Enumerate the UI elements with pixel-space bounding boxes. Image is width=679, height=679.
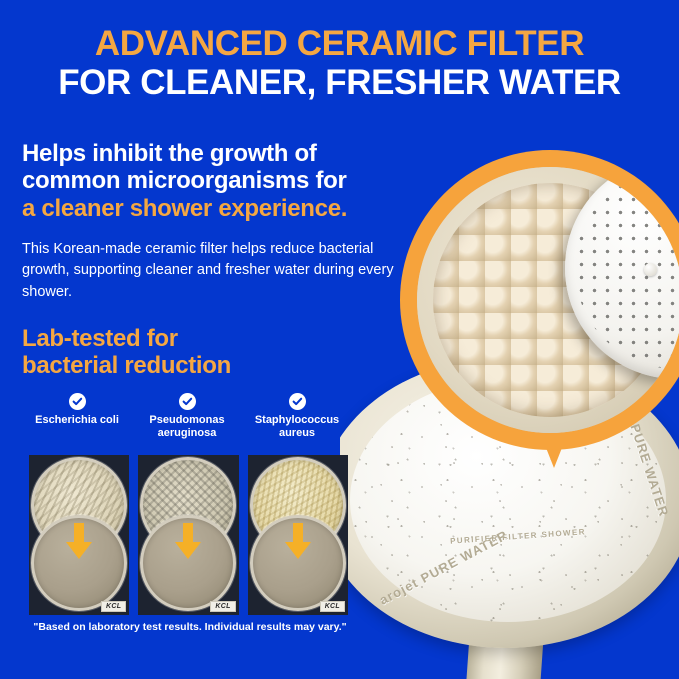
faceplate-nub-icon [644, 263, 657, 276]
bacteria-label-item: Pseudomonas aeruginosa [132, 393, 242, 440]
down-arrow-icon [66, 523, 92, 559]
section-title-line-1: Lab-tested for [22, 325, 178, 352]
page-title: ADVANCED CERAMIC FILTER FOR CLEANER, FRE… [0, 26, 679, 100]
petri-dish-panel: KCL [29, 455, 129, 615]
body-paragraph: This Korean-made ceramic filter helps re… [22, 239, 402, 303]
section-title-line-2: bacterial reduction [22, 352, 231, 379]
disclaimer-text: "Based on laboratory test results. Indiv… [22, 621, 358, 633]
headline-line-2: FOR CLEANER, FRESHER WATER [0, 65, 679, 101]
subheading-line-2: common microorganisms for [22, 167, 347, 194]
bacteria-label-row: Escherichia coli Pseudomonas aeruginosa … [22, 393, 352, 440]
check-circle-icon [289, 393, 306, 410]
subheading-accent-line: a cleaner shower experience. [22, 195, 442, 222]
subheading: Helps inhibit the growth of common micro… [22, 140, 442, 222]
infographic-page: jet PURE WATER arojet PURE WATER PURIFIE… [0, 0, 679, 679]
lab-badge: KCL [320, 601, 345, 612]
bacteria-label-item: Escherichia coli [22, 393, 132, 440]
bacteria-label-item: Staphylococcus aureus [242, 393, 352, 440]
lab-tested-section-title: Lab-tested for bacterial reduction [22, 326, 231, 380]
lab-badge: KCL [101, 601, 126, 612]
petri-dish-panel-row: KCL KCL KCL [29, 455, 348, 615]
bacteria-name: Escherichia coli [35, 414, 119, 427]
down-arrow-icon [285, 523, 311, 559]
down-arrow-icon [175, 523, 201, 559]
bacteria-name: Staphylococcus aureus [244, 414, 350, 440]
product-photo: jet PURE WATER arojet PURE WATER PURIFIE… [340, 0, 679, 679]
petri-dish-panel: KCL [248, 455, 348, 615]
check-circle-icon [179, 393, 196, 410]
headline-line-1: ADVANCED CERAMIC FILTER [0, 26, 679, 62]
subheading-line-1: Helps inhibit the growth of [22, 140, 317, 167]
check-circle-icon [69, 393, 86, 410]
lab-badge: KCL [210, 601, 235, 612]
bacteria-name: Pseudomonas aeruginosa [134, 414, 240, 440]
callout-photo-inner [417, 167, 679, 433]
petri-dish-panel: KCL [138, 455, 238, 615]
